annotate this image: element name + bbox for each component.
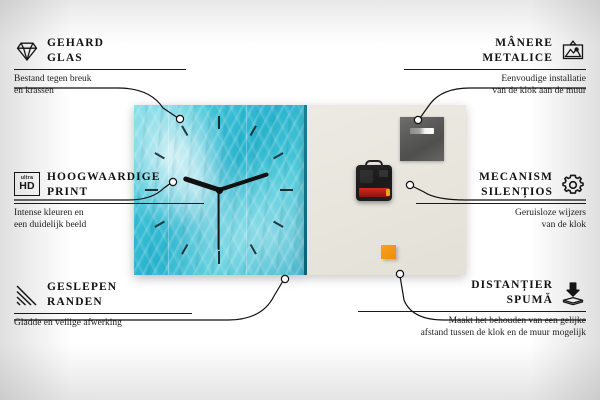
- press-down-icon: [560, 280, 586, 306]
- clock-mechanism: [356, 165, 392, 201]
- ultra-hd-icon: ultra HD: [14, 172, 40, 198]
- feature-geslepen-randen[interactable]: GESLEPEN RANDEN Gladde en veilige afwerk…: [14, 280, 192, 329]
- ultra-hd-large-label: HD: [19, 181, 35, 192]
- glass-edge: [304, 105, 307, 275]
- feature-head: MÂNERE METALICE: [404, 36, 586, 66]
- feature-title: GESLEPEN RANDEN: [47, 280, 117, 310]
- feature-hoogwaardige-print[interactable]: ultra HD HOOGWAARDIGE PRINT Intense kleu…: [14, 170, 204, 231]
- feature-title: DISTANȚIER SPUMĂ: [471, 278, 553, 308]
- feature-head: GESLEPEN RANDEN: [14, 280, 192, 310]
- mechanism-detail: [360, 170, 373, 183]
- divider: [14, 203, 204, 204]
- divider: [416, 203, 586, 204]
- feature-manere-metalice[interactable]: MÂNERE METALICE Eenvoudige installatie v…: [404, 36, 586, 97]
- divider: [404, 69, 586, 70]
- feature-head: ultra HD HOOGWAARDIGE PRINT: [14, 170, 204, 200]
- battery: [359, 188, 389, 197]
- mechanism-loop: [365, 160, 383, 168]
- feature-head: GEHARD GLAS: [14, 36, 186, 66]
- feature-desc: Bestand tegen breuk en krassen: [14, 73, 186, 97]
- divider: [14, 69, 186, 70]
- feature-gehard-glas[interactable]: GEHARD GLAS Bestand tegen breuk en krass…: [14, 36, 186, 97]
- second-hand: [218, 190, 220, 250]
- mechanism-detail: [379, 170, 388, 177]
- metal-hanger: [400, 117, 444, 161]
- vignette-bottom: [0, 344, 600, 400]
- foam-spacer: [381, 245, 396, 259]
- divider: [358, 311, 586, 312]
- feature-desc: Geruisloze wijzers van de klok: [416, 207, 586, 231]
- feature-title: HOOGWAARDIGE PRINT: [47, 170, 161, 200]
- hands-pivot: [216, 187, 223, 194]
- infographic-canvas: GEHARD GLAS Bestand tegen breuk en krass…: [0, 0, 600, 400]
- feature-desc: Gladde en veilige afwerking: [14, 317, 192, 329]
- divider: [14, 313, 192, 314]
- hanger-slot: [410, 128, 434, 134]
- feature-head: MECANISM SILENȚIOS: [416, 170, 586, 200]
- feature-mecanism-silentios[interactable]: MECANISM SILENȚIOS Geruisloze wijzers va…: [416, 170, 586, 231]
- feature-head: DISTANȚIER SPUMĂ: [358, 278, 586, 308]
- feature-distantier-spuma[interactable]: DISTANȚIER SPUMĂ Maakt het behouden van …: [358, 278, 586, 339]
- picture-frame-icon: [560, 38, 586, 64]
- feature-desc: Intense kleuren en een duidelijk beeld: [14, 207, 204, 231]
- feature-desc: Eenvoudige installatie van de klok aan d…: [404, 73, 586, 97]
- feature-title: MECANISM SILENȚIOS: [479, 170, 553, 200]
- gear-icon: [560, 172, 586, 198]
- feature-title: GEHARD GLAS: [47, 36, 104, 66]
- diamond-icon: [14, 38, 40, 64]
- feature-desc: Maakt het behouden van een gelijke afsta…: [358, 315, 586, 339]
- feature-title: MÂNERE METALICE: [482, 36, 553, 66]
- beveled-edges-icon: [14, 282, 40, 308]
